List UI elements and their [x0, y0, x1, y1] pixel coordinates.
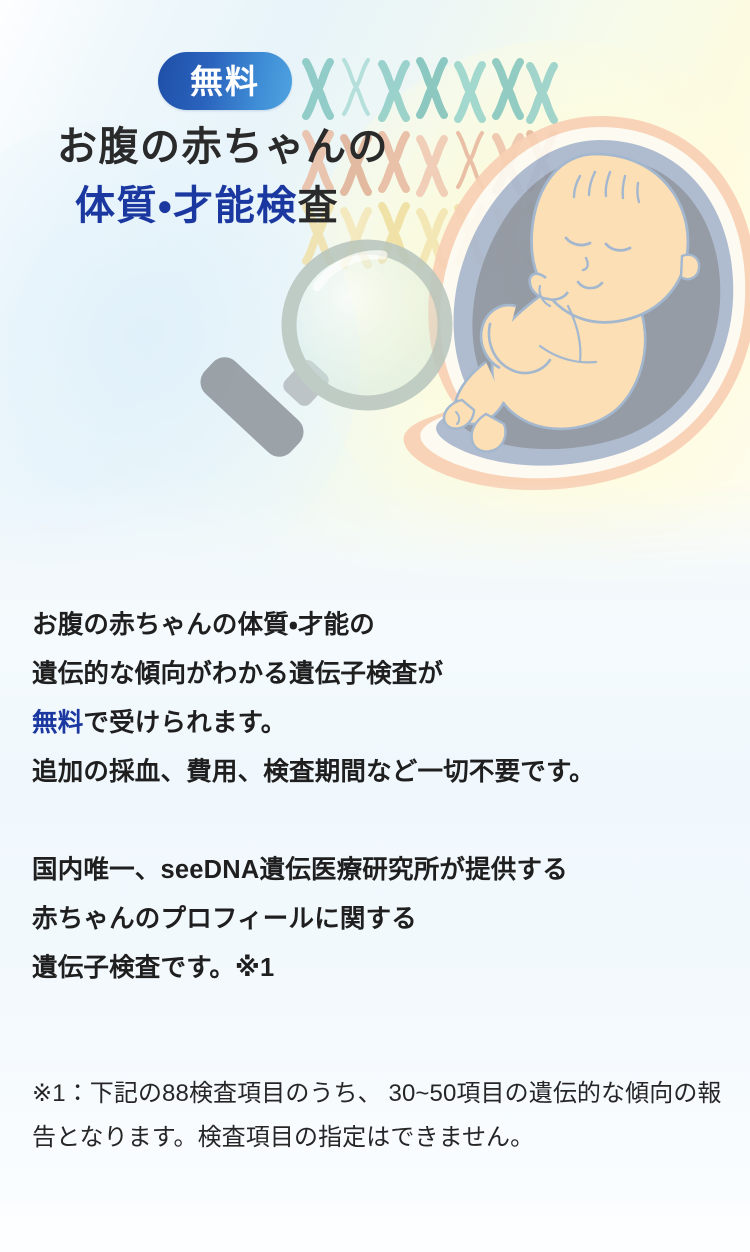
- free-badge-label: 無料: [190, 65, 260, 98]
- paragraph1-line-1: お腹の赤ちゃんの体質・才能の: [32, 601, 722, 650]
- page-title-accent: 体質・才能検: [75, 184, 298, 228]
- paragraph1-line-3: 無料で受けられます。: [32, 699, 722, 748]
- footnote-text: ※1：下記の88検査項目のうち、 30~50項目の遺伝的な傾向の報告となります。…: [32, 1072, 726, 1160]
- page-title: お腹の赤ちゃんの 体質・才能検査: [0, 118, 750, 236]
- description-block: お腹の赤ちゃんの体質・才能の 遺伝的な傾向がわかる遺伝子検査が 無料で受けられま…: [32, 601, 722, 993]
- magnifying-glass-icon: [185, 235, 465, 495]
- page-title-line-2: 体質・才能検査: [0, 177, 750, 236]
- page-title-tail: 査: [298, 184, 340, 228]
- paragraph2-line-3: 遺伝子検査です。※1: [32, 944, 722, 993]
- page-title-line-1: お腹の赤ちゃんの: [0, 118, 750, 177]
- paragraph-spacer: [32, 797, 722, 846]
- free-badge: 無料: [158, 52, 292, 110]
- paragraph1-line-2: 遺伝的な傾向がわかる遺伝子検査が: [32, 650, 722, 699]
- hero-section: 無料 お腹の赤ちゃんの 体質・才能検査: [0, 0, 750, 600]
- paragraph2-line-1: 国内唯一、seeDNA遺伝医療研究所が提供する: [32, 846, 722, 895]
- paragraph1-line-4: 追加の採血、費用、検査期間など一切不要です。: [32, 748, 722, 797]
- free-keyword: 無料: [32, 709, 83, 737]
- paragraph1-line-3-tail: で受けられます。: [83, 709, 286, 737]
- paragraph2-line-2: 赤ちゃんのプロフィールに関する: [32, 895, 722, 944]
